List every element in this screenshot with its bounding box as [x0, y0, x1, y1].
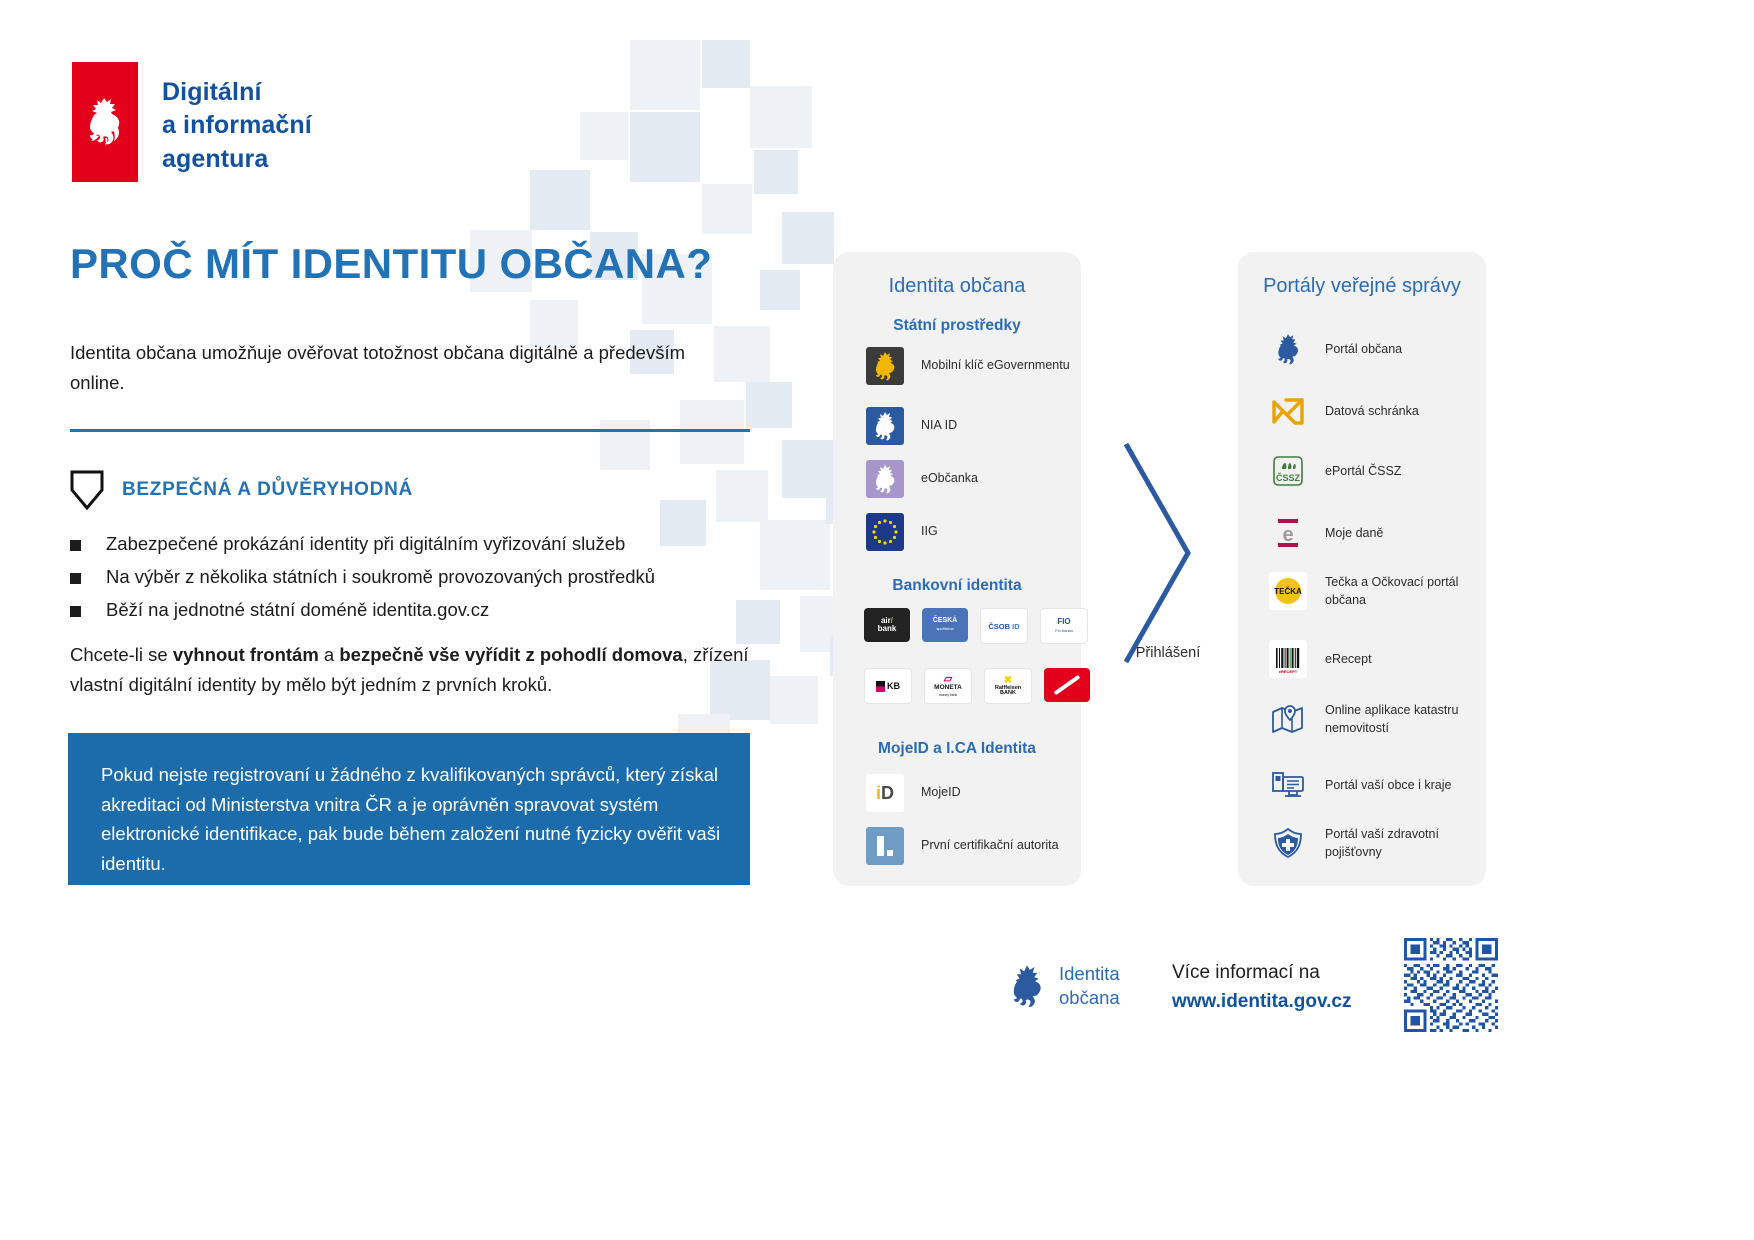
lion-purple-icon [866, 460, 904, 498]
lead-paragraph: Identita občana umožňuje ověřovat totožn… [70, 338, 710, 398]
arrow-label: Přihlášení [1108, 645, 1228, 661]
bank-logos-row-1: air/bank ČESKÁspořitelna ČSOB ID FIOFio … [864, 608, 1088, 644]
section-heading: BEZPEČNÁ A DŮVĚRYHODNÁ [70, 470, 413, 510]
tecka-icon: TEČKA [1269, 572, 1307, 610]
logo-line-2: a informační [162, 109, 312, 142]
bank-logo-fio[interactable]: FIOFio banka [1040, 608, 1088, 644]
identity-label: eObčanka [921, 470, 978, 488]
bank-logo-raiffeisen[interactable]: ✖RaiffeisenBANK [984, 668, 1032, 704]
portal-label: Tečka a Očkovací portál občana [1325, 573, 1486, 609]
identity-row-nia-id[interactable]: NIA ID [866, 407, 957, 445]
barcode-icon: eRECEPT [1269, 640, 1307, 678]
dia-logo: Digitální a informační agentura [72, 62, 312, 182]
footer-url[interactable]: www.identita.gov.cz [1172, 987, 1351, 1016]
identity-label: Mobilní klíč eGovernmentu [921, 357, 1070, 375]
identity-label: První certifikační autorita [921, 837, 1059, 855]
login-arrow-icon [1118, 438, 1200, 668]
lion-blue-icon [866, 407, 904, 445]
identita-obcana-footer-logo: Identita občana [1008, 962, 1120, 1009]
identita-card-title: Identita občana [833, 275, 1081, 298]
shield-icon [70, 470, 104, 510]
footer-logo-text: Identita občana [1059, 962, 1120, 1009]
moje-dane-e-icon: e [1269, 514, 1307, 552]
identity-row-eobcanka[interactable]: eObčanka [866, 460, 978, 498]
identity-row-mojeid[interactable]: iD MojeID [866, 774, 961, 812]
footer-more-label: Více informací na [1172, 962, 1320, 983]
czech-flag-block [72, 62, 138, 182]
portal-row-obce-kraje[interactable]: Portál vaší obce i kraje [1269, 766, 1451, 804]
portal-label: eRecept [1325, 650, 1372, 668]
para-bold-2: bezpečně vše vyřídit z pohodlí domova [339, 644, 682, 665]
page-title: PROČ MÍT IDENTITU OBČANA? [70, 240, 712, 288]
portal-label: Online aplikace katastru nemovitostí [1325, 701, 1486, 737]
callout-text: Pokud nejste registrovaní u žádného z kv… [101, 760, 721, 878]
map-pin-icon [1269, 700, 1307, 738]
databox-arrow-icon [1269, 392, 1307, 430]
czech-lion-icon [83, 96, 127, 148]
footer-logo-line-2: občana [1059, 986, 1120, 1010]
bank-logo-ceska-sporitelna[interactable]: ČESKÁspořitelna [922, 608, 968, 642]
mojeid-icon: iD [866, 774, 904, 812]
identity-label: MojeID [921, 784, 961, 802]
bank-logo-unicredit[interactable] [1044, 668, 1090, 702]
portaly-verejne-spravy-card: Portály veřejné správy Portál občana Dat… [1238, 252, 1486, 886]
infographic-page: Digitální a informační agentura PROČ MÍT… [0, 0, 1754, 1240]
logo-line-3: agentura [162, 143, 312, 176]
shield-plus-icon [1269, 824, 1307, 862]
logo-wordmark: Digitální a informační agentura [162, 62, 312, 176]
lion-blue-outline-icon [1269, 330, 1307, 368]
bank-logo-csob-id[interactable]: ČSOB ID [980, 608, 1028, 644]
identity-label: IIG [921, 523, 938, 541]
identita-obcana-card: Identita občana Státní prostředky Mobiln… [833, 252, 1081, 886]
bank-logo-kb[interactable]: KB [864, 668, 912, 704]
monitor-icon [1269, 766, 1307, 804]
list-item: Zabezpečené prokázání identity při digit… [70, 528, 770, 561]
para-part-1: Chcete-li se [70, 644, 173, 665]
ica-icon [866, 827, 904, 865]
group-title-state: Státní prostředky [833, 317, 1081, 335]
portal-label: Portál vaší obce i kraje [1325, 776, 1451, 794]
group-title-bank: Bankovní identita [833, 577, 1081, 595]
portal-row-portal-obcana[interactable]: Portál občana [1269, 330, 1402, 368]
svg-text:ČSSZ: ČSSZ [1276, 472, 1301, 483]
identity-row-iig[interactable]: IIG [866, 513, 938, 551]
portal-label: ePortál ČSSZ [1325, 462, 1401, 480]
portal-row-moje-dane[interactable]: e Moje daně [1269, 514, 1383, 552]
portal-label: Portál vaší zdravotní pojišťovny [1325, 825, 1486, 861]
callout-box: Pokud nejste registrovaní u žádného z kv… [68, 733, 750, 885]
lion-icon [1008, 964, 1046, 1008]
group-title-mojeid: MojeID a I.CA Identita [833, 740, 1081, 758]
logo-line-1: Digitální [162, 76, 312, 109]
footer-more-info: Více informací na www.identita.gov.cz [1172, 958, 1351, 1017]
footer-logo-line-1: Identita [1059, 962, 1120, 986]
list-item: Běží na jednotné státní doméně identita.… [70, 594, 770, 627]
lion-dark-icon [866, 347, 904, 385]
portal-row-tecka[interactable]: TEČKA Tečka a Očkovací portál občana [1269, 572, 1486, 610]
identity-label: NIA ID [921, 417, 957, 435]
portals-card-title: Portály veřejné správy [1238, 275, 1486, 298]
list-item: Na výběr z několika státních i soukromě … [70, 561, 770, 594]
benefits-list: Zabezpečené prokázání identity při digit… [70, 528, 770, 627]
section-title: BEZPEČNÁ A DŮVĚRYHODNÁ [122, 479, 413, 501]
identity-row-ica[interactable]: První certifikační autorita [866, 827, 1059, 865]
bank-logo-airbank[interactable]: air/bank [864, 608, 910, 642]
portal-row-datova-schranka[interactable]: Datová schránka [1269, 392, 1419, 430]
svg-text:TEČKA: TEČKA [1274, 587, 1302, 596]
portal-label: Moje daně [1325, 524, 1383, 542]
cssz-leaf-icon: ČSSZ [1269, 452, 1307, 490]
portal-label: Datová schránka [1325, 402, 1419, 420]
qr-code[interactable] [1404, 938, 1498, 1032]
bank-logos-row-2: KB ▱MONETAmoney bank ✖RaiffeisenBANK [864, 668, 1090, 704]
divider-rule [70, 429, 750, 432]
identity-row-mobilni-klic[interactable]: Mobilní klíč eGovernmentu [866, 347, 1070, 385]
para-part-2: a [319, 644, 340, 665]
portal-row-eportal-cssz[interactable]: ČSSZ ePortál ČSSZ [1269, 452, 1401, 490]
portal-label: Portál občana [1325, 340, 1402, 358]
svg-text:eRECEPT: eRECEPT [1279, 669, 1298, 674]
eu-flag-icon [866, 513, 904, 551]
para-bold-1: vyhnout frontám [173, 644, 319, 665]
svg-text:e: e [1282, 524, 1293, 546]
bank-logo-moneta[interactable]: ▱MONETAmoney bank [924, 668, 972, 704]
portal-row-zdravotni-pojistovna[interactable]: Portál vaší zdravotní pojišťovny [1269, 824, 1486, 862]
closing-paragraph: Chcete-li se vyhnout frontám a bezpečně … [70, 640, 770, 700]
portal-row-katastr[interactable]: Online aplikace katastru nemovitostí [1269, 700, 1486, 738]
portal-row-erecept[interactable]: eRECEPT eRecept [1269, 640, 1372, 678]
